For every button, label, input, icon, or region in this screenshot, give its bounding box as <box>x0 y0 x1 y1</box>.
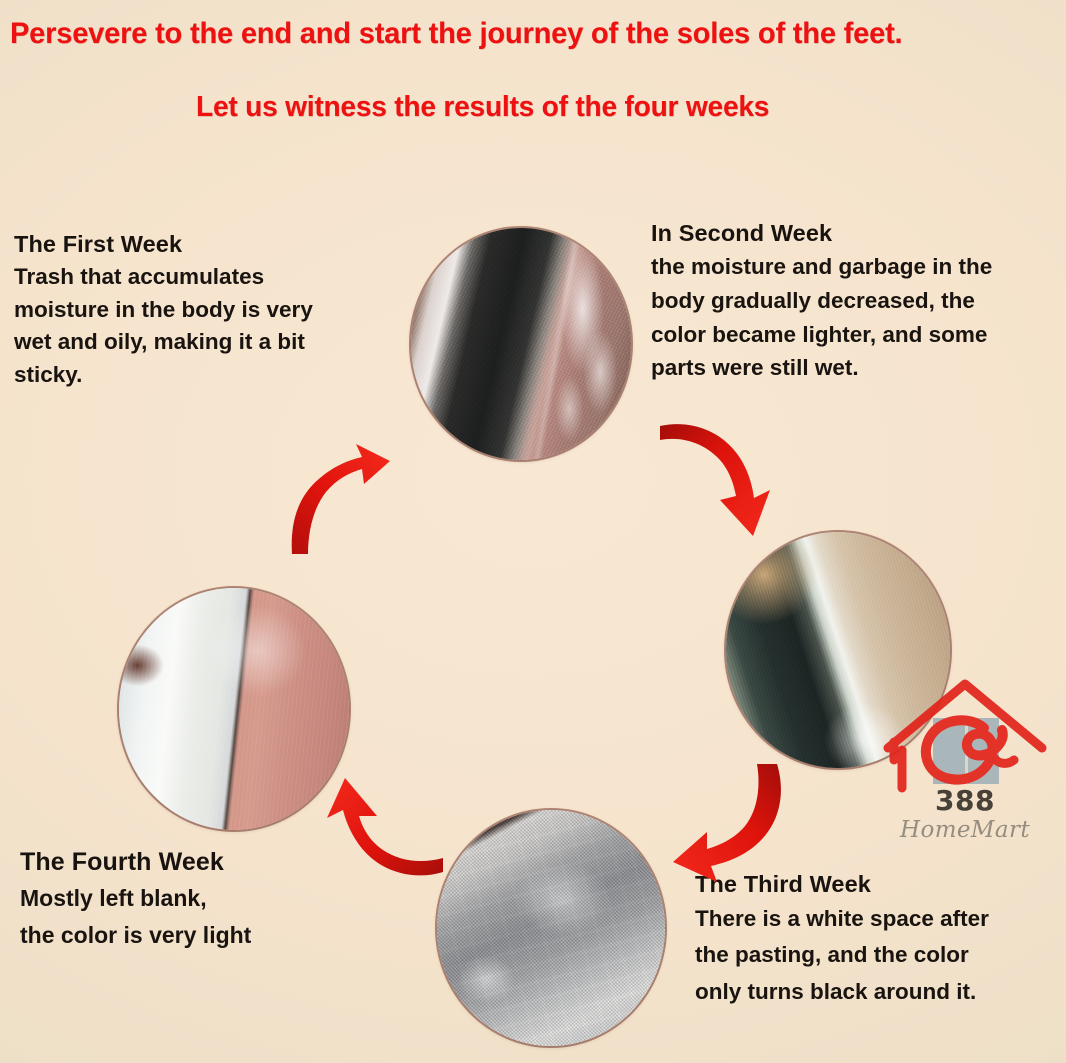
week2-body-line: body gradually decreased, the <box>651 284 1066 318</box>
week1-body: Trash that accumulates moisture in the b… <box>14 261 394 392</box>
photo-week3 <box>437 810 665 1046</box>
week4-body-line: the color is very light <box>20 917 360 954</box>
arrow-week2-to-week3-icon <box>655 762 795 886</box>
week3-body-line: the pasting, and the color <box>695 937 1066 973</box>
week3-body: There is a white space after the pasting… <box>695 901 1066 1010</box>
arrow-week4-to-week1-icon <box>286 438 422 556</box>
week1-body-line: sticky. <box>14 359 394 392</box>
week1-body-line: moisture in the body is very <box>14 294 394 327</box>
watermark-logo: 388 HomeMart <box>872 676 1058 856</box>
text-block-week3: The Third Week There is a white space af… <box>695 871 1066 1010</box>
headline-secondary: Let us witness the results of the four w… <box>196 91 769 124</box>
week2-body: the moisture and garbage in the body gra… <box>651 250 1066 385</box>
photo-week3-texture <box>437 810 665 1046</box>
text-block-week1: The First Week Trash that accumulates mo… <box>14 231 394 392</box>
watermark-name: HomeMart <box>872 817 1058 843</box>
watermark-number: 388 <box>872 784 1058 817</box>
poster-canvas: Persevere to the end and start the journ… <box>0 0 1066 1063</box>
photo-week1-texture <box>411 228 631 460</box>
text-block-week2: In Second Week the moisture and garbage … <box>651 220 1066 385</box>
week1-body-line: wet and oily, making it a bit <box>14 326 394 359</box>
week3-body-line: There is a white space after <box>695 901 1066 937</box>
arrow-week1-to-week2-icon <box>658 416 798 544</box>
week3-body-line: only turns black around it. <box>695 974 1066 1010</box>
week1-title: The First Week <box>14 231 394 258</box>
photo-week1 <box>411 228 631 460</box>
week2-body-line: parts were still wet. <box>651 351 1066 385</box>
week2-body-line: the moisture and garbage in the <box>651 250 1066 284</box>
week1-body-line: Trash that accumulates <box>14 261 394 294</box>
week2-body-line: color became lighter, and some <box>651 318 1066 352</box>
week2-title: In Second Week <box>651 220 1066 247</box>
headline-primary: Persevere to the end and start the journ… <box>10 17 902 51</box>
arrow-week3-to-week4-icon <box>305 776 445 896</box>
